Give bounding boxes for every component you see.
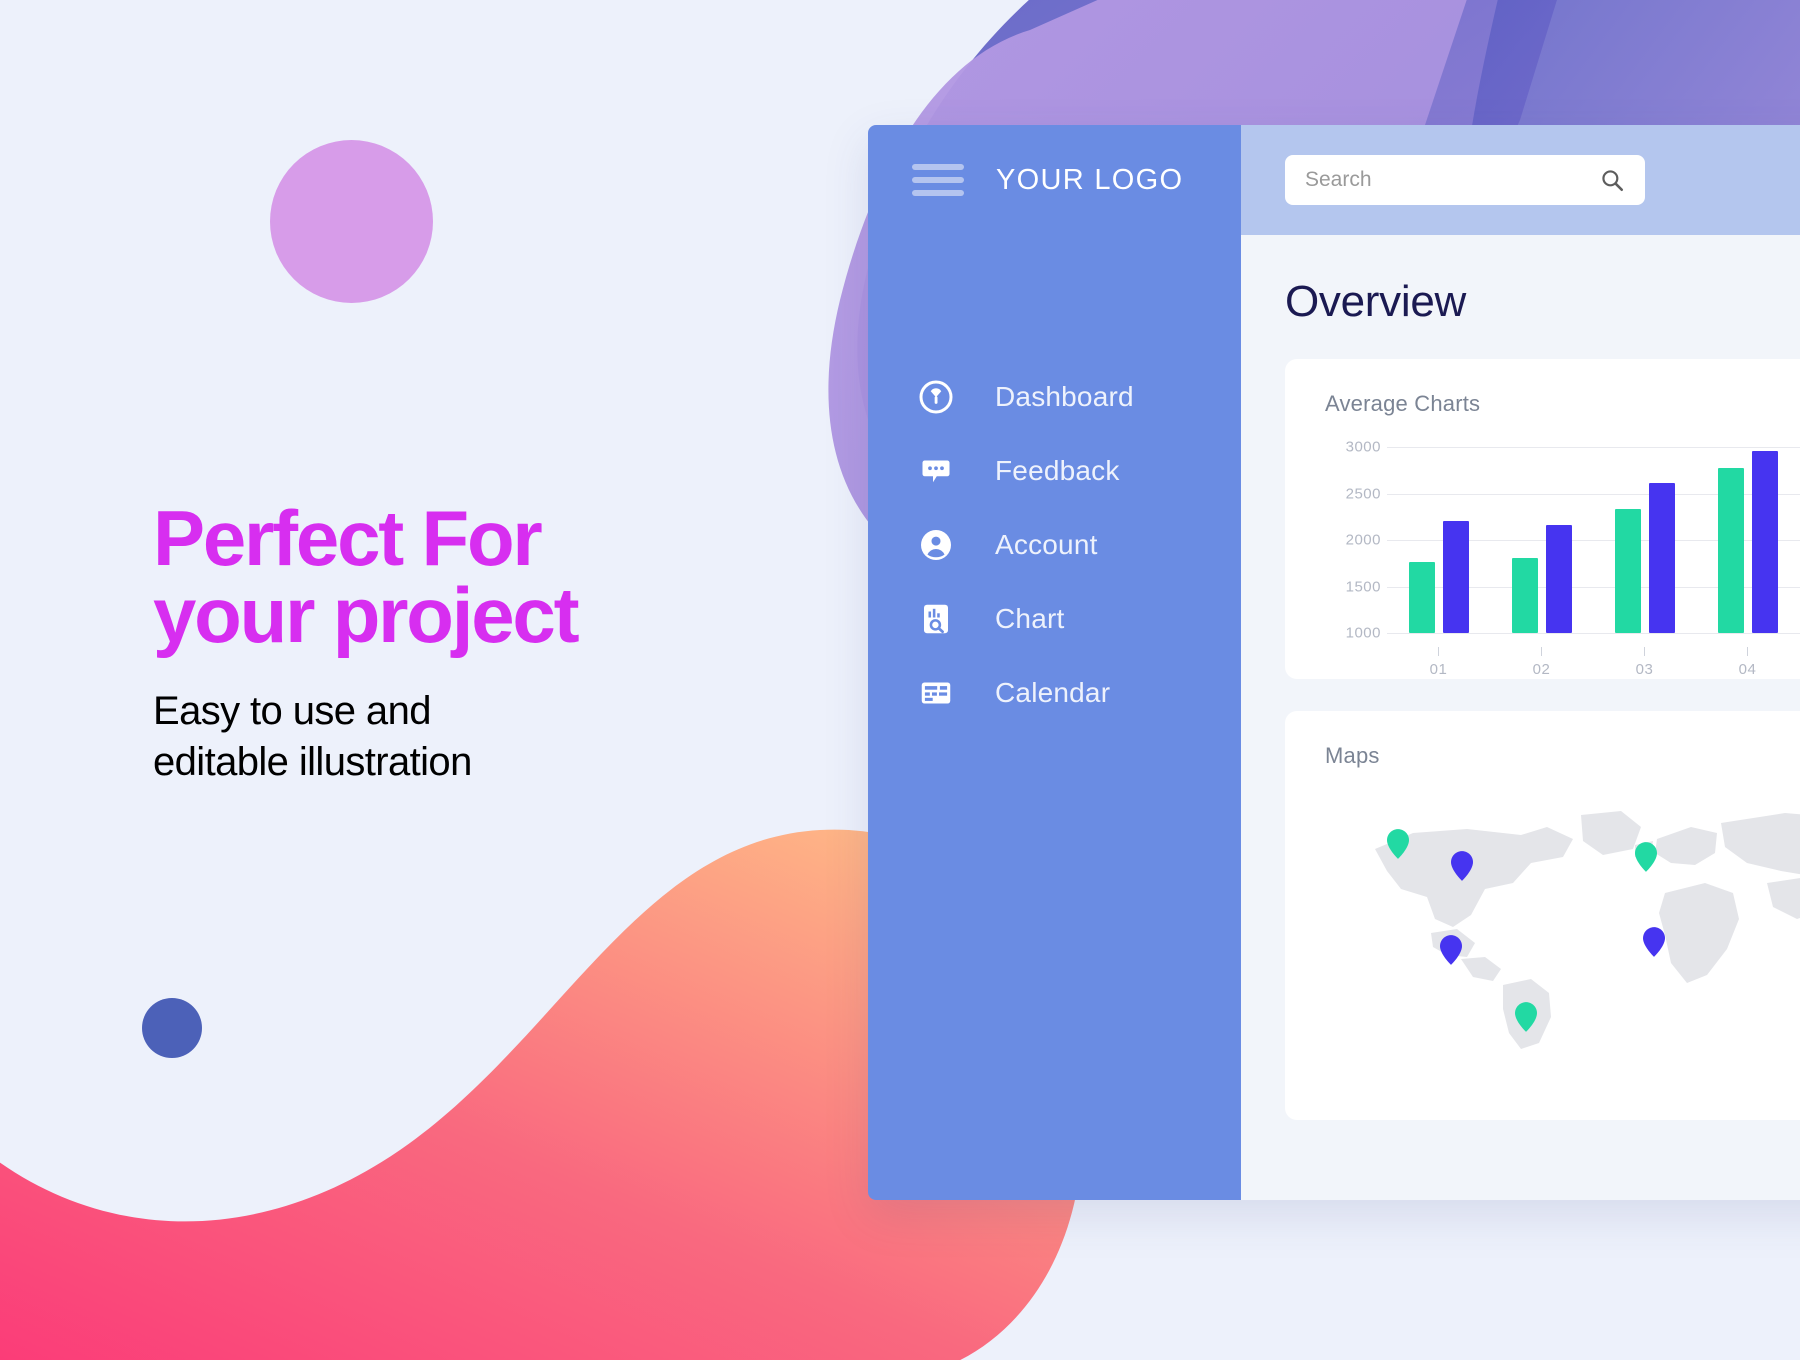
world-map[interactable]: Your Text 01 [1325, 787, 1800, 1092]
hamburger-bar [912, 164, 964, 170]
chart-bar[interactable] [1512, 558, 1538, 633]
sidebar: YOUR LOGO Dashboard [868, 125, 1241, 1200]
chart-x-tick-label: 04 [1739, 661, 1757, 678]
hamburger-bar [912, 190, 964, 196]
chart-x-tick-mark [1541, 647, 1542, 656]
map-pin-icon[interactable] [1643, 927, 1665, 957]
promo-subheadline-line-2: editable illustration [153, 740, 472, 784]
chart-x-tick-mark [1438, 647, 1439, 656]
chart-search-icon [918, 601, 954, 637]
sidebar-header: YOUR LOGO [868, 125, 1241, 235]
promo-copy: Perfect For your project Easy to use and… [153, 500, 773, 787]
sidebar-item-account[interactable]: Account [868, 508, 1241, 582]
chart-bar[interactable] [1443, 521, 1469, 633]
sidebar-item-label: Account [995, 529, 1098, 561]
chart-card-title: Average Charts [1325, 391, 1800, 417]
maps-card: Maps [1285, 711, 1800, 1120]
chart-bars [1387, 447, 1800, 633]
sidebar-item-feedback[interactable]: Feedback [868, 434, 1241, 508]
chart-x-axis: 010203040506 [1387, 647, 1800, 678]
calendar-icon [918, 675, 954, 711]
chart-bar[interactable] [1718, 468, 1744, 633]
chart-bar[interactable] [1409, 562, 1435, 633]
map-pin-icon[interactable] [1635, 842, 1657, 872]
chart-y-tick-label: 2000 [1346, 532, 1381, 549]
bar-chart: 10001500200025003000 010203040506 [1325, 447, 1800, 679]
chart-x-tick-label: 01 [1430, 661, 1448, 678]
chart-bar[interactable] [1649, 483, 1675, 633]
chart-bar[interactable] [1615, 509, 1641, 633]
chart-y-tick-label: 2500 [1346, 485, 1381, 502]
chart-x-tick-mark [1644, 647, 1645, 656]
hamburger-bar [912, 177, 964, 183]
sidebar-item-chart[interactable]: Chart [868, 582, 1241, 656]
chart-bar-group [1593, 447, 1696, 633]
promo-subheadline-line-1: Easy to use and [153, 689, 431, 733]
sidebar-item-label: Feedback [995, 455, 1120, 487]
main-panel: Search Overview Average Charts 100015002… [1241, 125, 1800, 1200]
map-pin-icon[interactable] [1440, 935, 1462, 965]
promo-headline: Perfect For your project [153, 500, 773, 654]
chat-bubble-icon [918, 453, 954, 489]
chart-x-tick: 01 [1387, 647, 1490, 678]
blue-circle-decoration [142, 998, 202, 1058]
chart-x-tick: 03 [1593, 647, 1696, 678]
chart-gridline [1387, 633, 1800, 634]
search-input[interactable]: Search [1285, 155, 1645, 205]
app-logo-text: YOUR LOGO [996, 164, 1183, 197]
dashboard-icon [918, 379, 954, 415]
hamburger-icon[interactable] [912, 164, 964, 196]
sidebar-item-dashboard[interactable]: Dashboard [868, 360, 1241, 434]
sidebar-item-label: Calendar [995, 677, 1110, 709]
chart-y-tick-label: 1500 [1346, 578, 1381, 595]
chart-x-tick-label: 02 [1533, 661, 1551, 678]
user-icon [918, 527, 954, 563]
top-bar: Search [1241, 125, 1800, 235]
chart-bar[interactable] [1546, 525, 1572, 633]
sidebar-item-label: Chart [995, 603, 1064, 635]
chart-y-axis: 10001500200025003000 [1325, 447, 1381, 633]
chart-bar-group [1387, 447, 1490, 633]
chart-bar-group [1490, 447, 1593, 633]
promo-headline-line-2: your project [153, 577, 773, 654]
chart-y-tick-label: 3000 [1346, 439, 1381, 456]
map-pin-icon[interactable] [1387, 829, 1409, 859]
page-title: Overview [1285, 277, 1800, 327]
chart-y-tick-label: 1000 [1346, 625, 1381, 642]
average-charts-card: Average Charts 10001500200025003000 0102… [1285, 359, 1800, 679]
sidebar-item-calendar[interactable]: Calendar [868, 656, 1241, 730]
magnifier-icon[interactable] [1599, 167, 1625, 193]
chart-plot-area [1387, 447, 1800, 633]
search-placeholder: Search [1305, 168, 1599, 192]
maps-card-title: Maps [1325, 743, 1800, 769]
chart-x-tick-label: 03 [1636, 661, 1654, 678]
chart-bar[interactable] [1752, 451, 1778, 633]
lilac-circle-decoration [270, 140, 433, 303]
dashboard-window: YOUR LOGO Dashboard [868, 125, 1800, 1200]
map-pin-icon[interactable] [1515, 1002, 1537, 1032]
main-content: Overview Average Charts 1000150020002500… [1241, 235, 1800, 1200]
sidebar-item-label: Dashboard [995, 381, 1134, 413]
chart-x-tick: 04 [1696, 647, 1799, 678]
promo-subheadline: Easy to use and editable illustration [153, 686, 773, 787]
chart-bar-group [1696, 447, 1799, 633]
chart-x-tick-mark [1747, 647, 1748, 656]
sidebar-nav: Dashboard Feedback [868, 360, 1241, 730]
promo-headline-line-1: Perfect For [153, 494, 541, 582]
chart-x-tick: 02 [1490, 647, 1593, 678]
map-pin-icon[interactable] [1451, 851, 1473, 881]
